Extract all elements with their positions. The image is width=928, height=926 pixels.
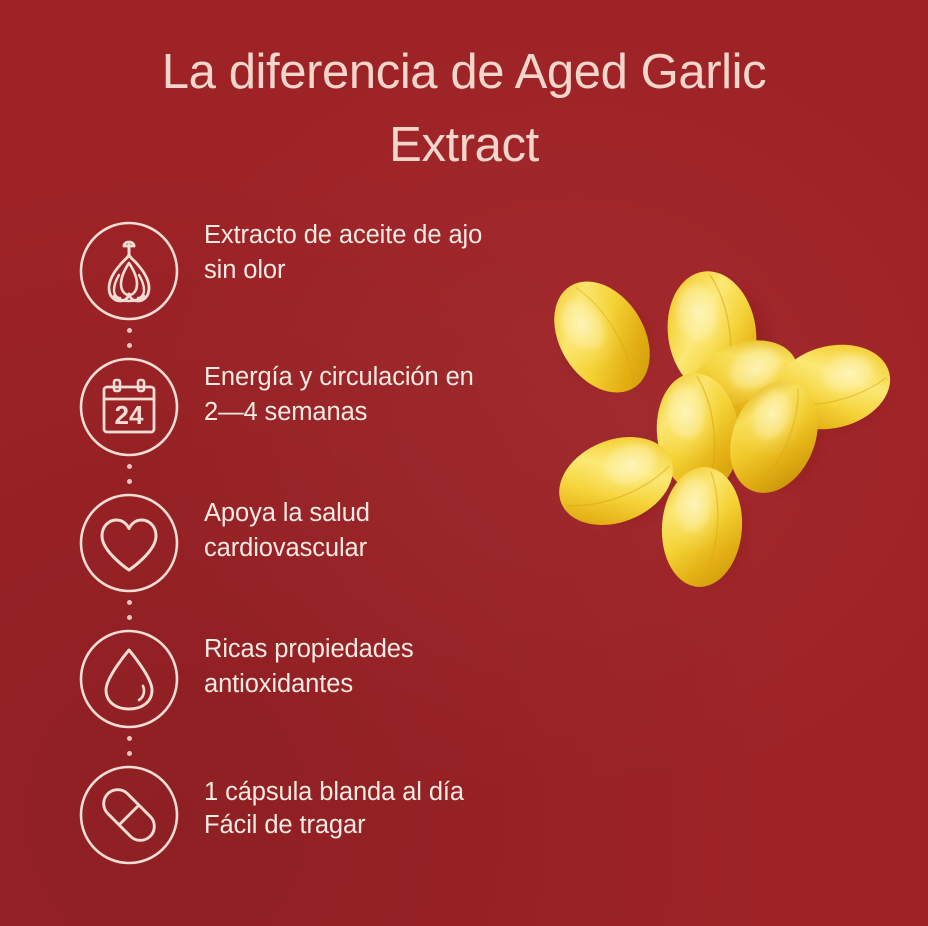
feature-item-garlic-oil: Extracto de aceite de ajo sin olor: [78, 218, 548, 354]
feature-item-label: 1 cápsula blanda al día Fácil de tragar: [180, 762, 548, 842]
feature-item-label: Energía y circulación en 2—4 semanas: [180, 354, 548, 430]
connector-dots: [125, 464, 133, 494]
page-title-line-2: Extract: [60, 121, 868, 170]
heart-icon: [78, 492, 180, 594]
water-drop-icon: [78, 628, 180, 730]
feature-item-label: Ricas propiedades antioxidantes: [180, 626, 548, 702]
page-title-text: La diferencia de Aged GarlicExtract: [60, 48, 868, 170]
capsule-pill-icon: [78, 764, 180, 866]
feature-item-one-softgel: 1 cápsula blanda al día Fácil de tragar: [78, 762, 548, 898]
feature-item-cardiovascular: Apoya la salud cardiovascular: [78, 490, 548, 626]
connector-dots: [125, 328, 133, 358]
infographic-poster: La diferencia de Aged GarlicExtract: [0, 0, 928, 926]
page-title: La diferencia de Aged GarlicExtract: [60, 48, 868, 170]
garlic-bulb-icon: [78, 220, 180, 322]
connector-dots: [125, 600, 133, 630]
feature-item-label: Apoya la salud cardiovascular: [180, 490, 548, 566]
feature-item-energy-circulation: 24 Energía y circulación en 2—4 semanas: [78, 354, 548, 490]
page-title-line-1: La diferencia de Aged Garlic: [162, 45, 766, 99]
feature-item-label: Extracto de aceite de ajo sin olor: [180, 218, 548, 288]
feature-item-antioxidant: Ricas propiedades antioxidantes: [78, 626, 548, 762]
softgel-capsules-photo: [530, 215, 920, 615]
calendar-day-number: 24: [115, 400, 144, 430]
calendar-24-icon: 24: [78, 356, 180, 458]
feature-list: Extracto de aceite de ajo sin olor 24 En…: [78, 218, 548, 898]
connector-dots: [125, 736, 133, 766]
